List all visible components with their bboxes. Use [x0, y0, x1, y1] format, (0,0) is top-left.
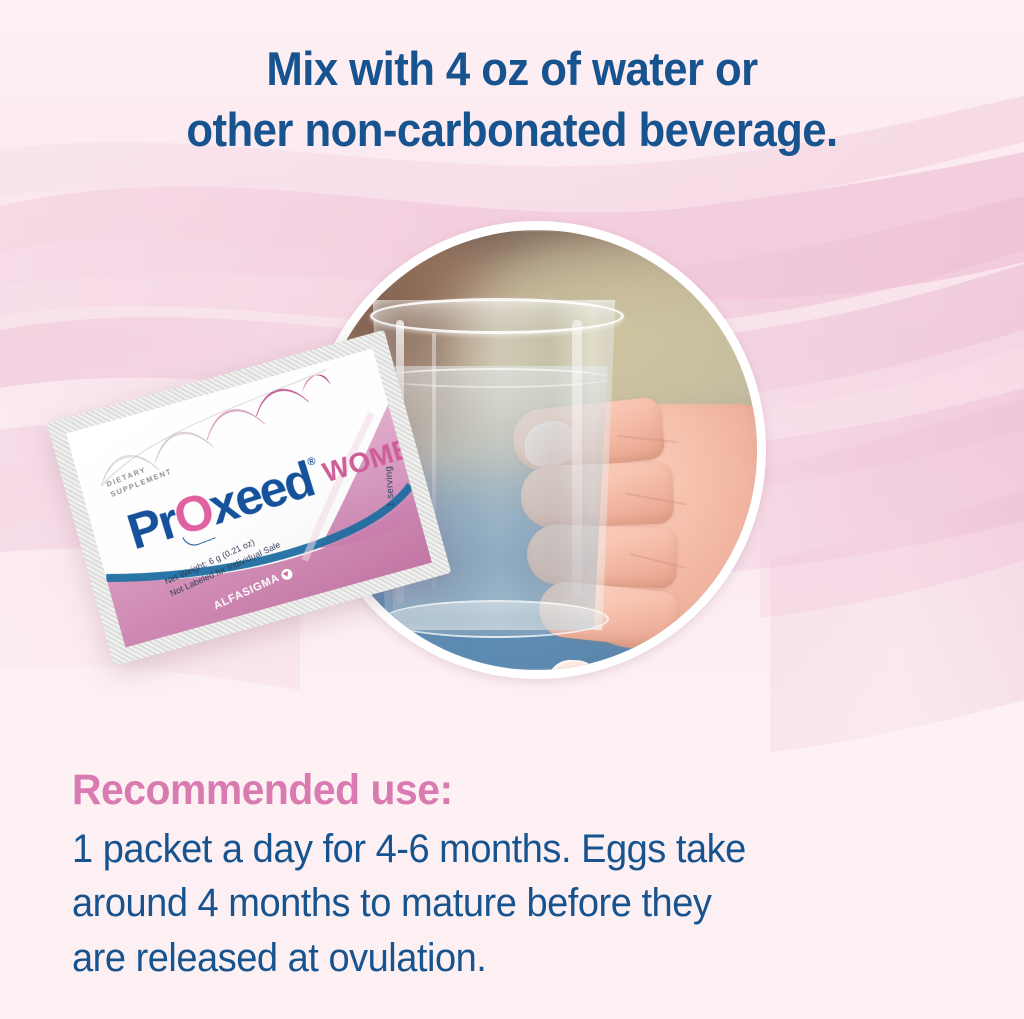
- recommended-use-heading: Recommended use:: [72, 766, 453, 815]
- page-title: Mix with 4 oz of water or other non-carb…: [36, 38, 988, 160]
- glass-waterline: [378, 368, 610, 388]
- promo-canvas: Mix with 4 oz of water or other non-carb…: [0, 0, 1024, 1019]
- serving-count-label: 1 serving: [383, 466, 396, 508]
- glass-base: [383, 600, 609, 638]
- recommended-use-body: 1 packet a day for 4-6 months. Eggs take…: [72, 822, 927, 985]
- glass-rim: [370, 298, 624, 334]
- glass-highlight: [572, 320, 582, 597]
